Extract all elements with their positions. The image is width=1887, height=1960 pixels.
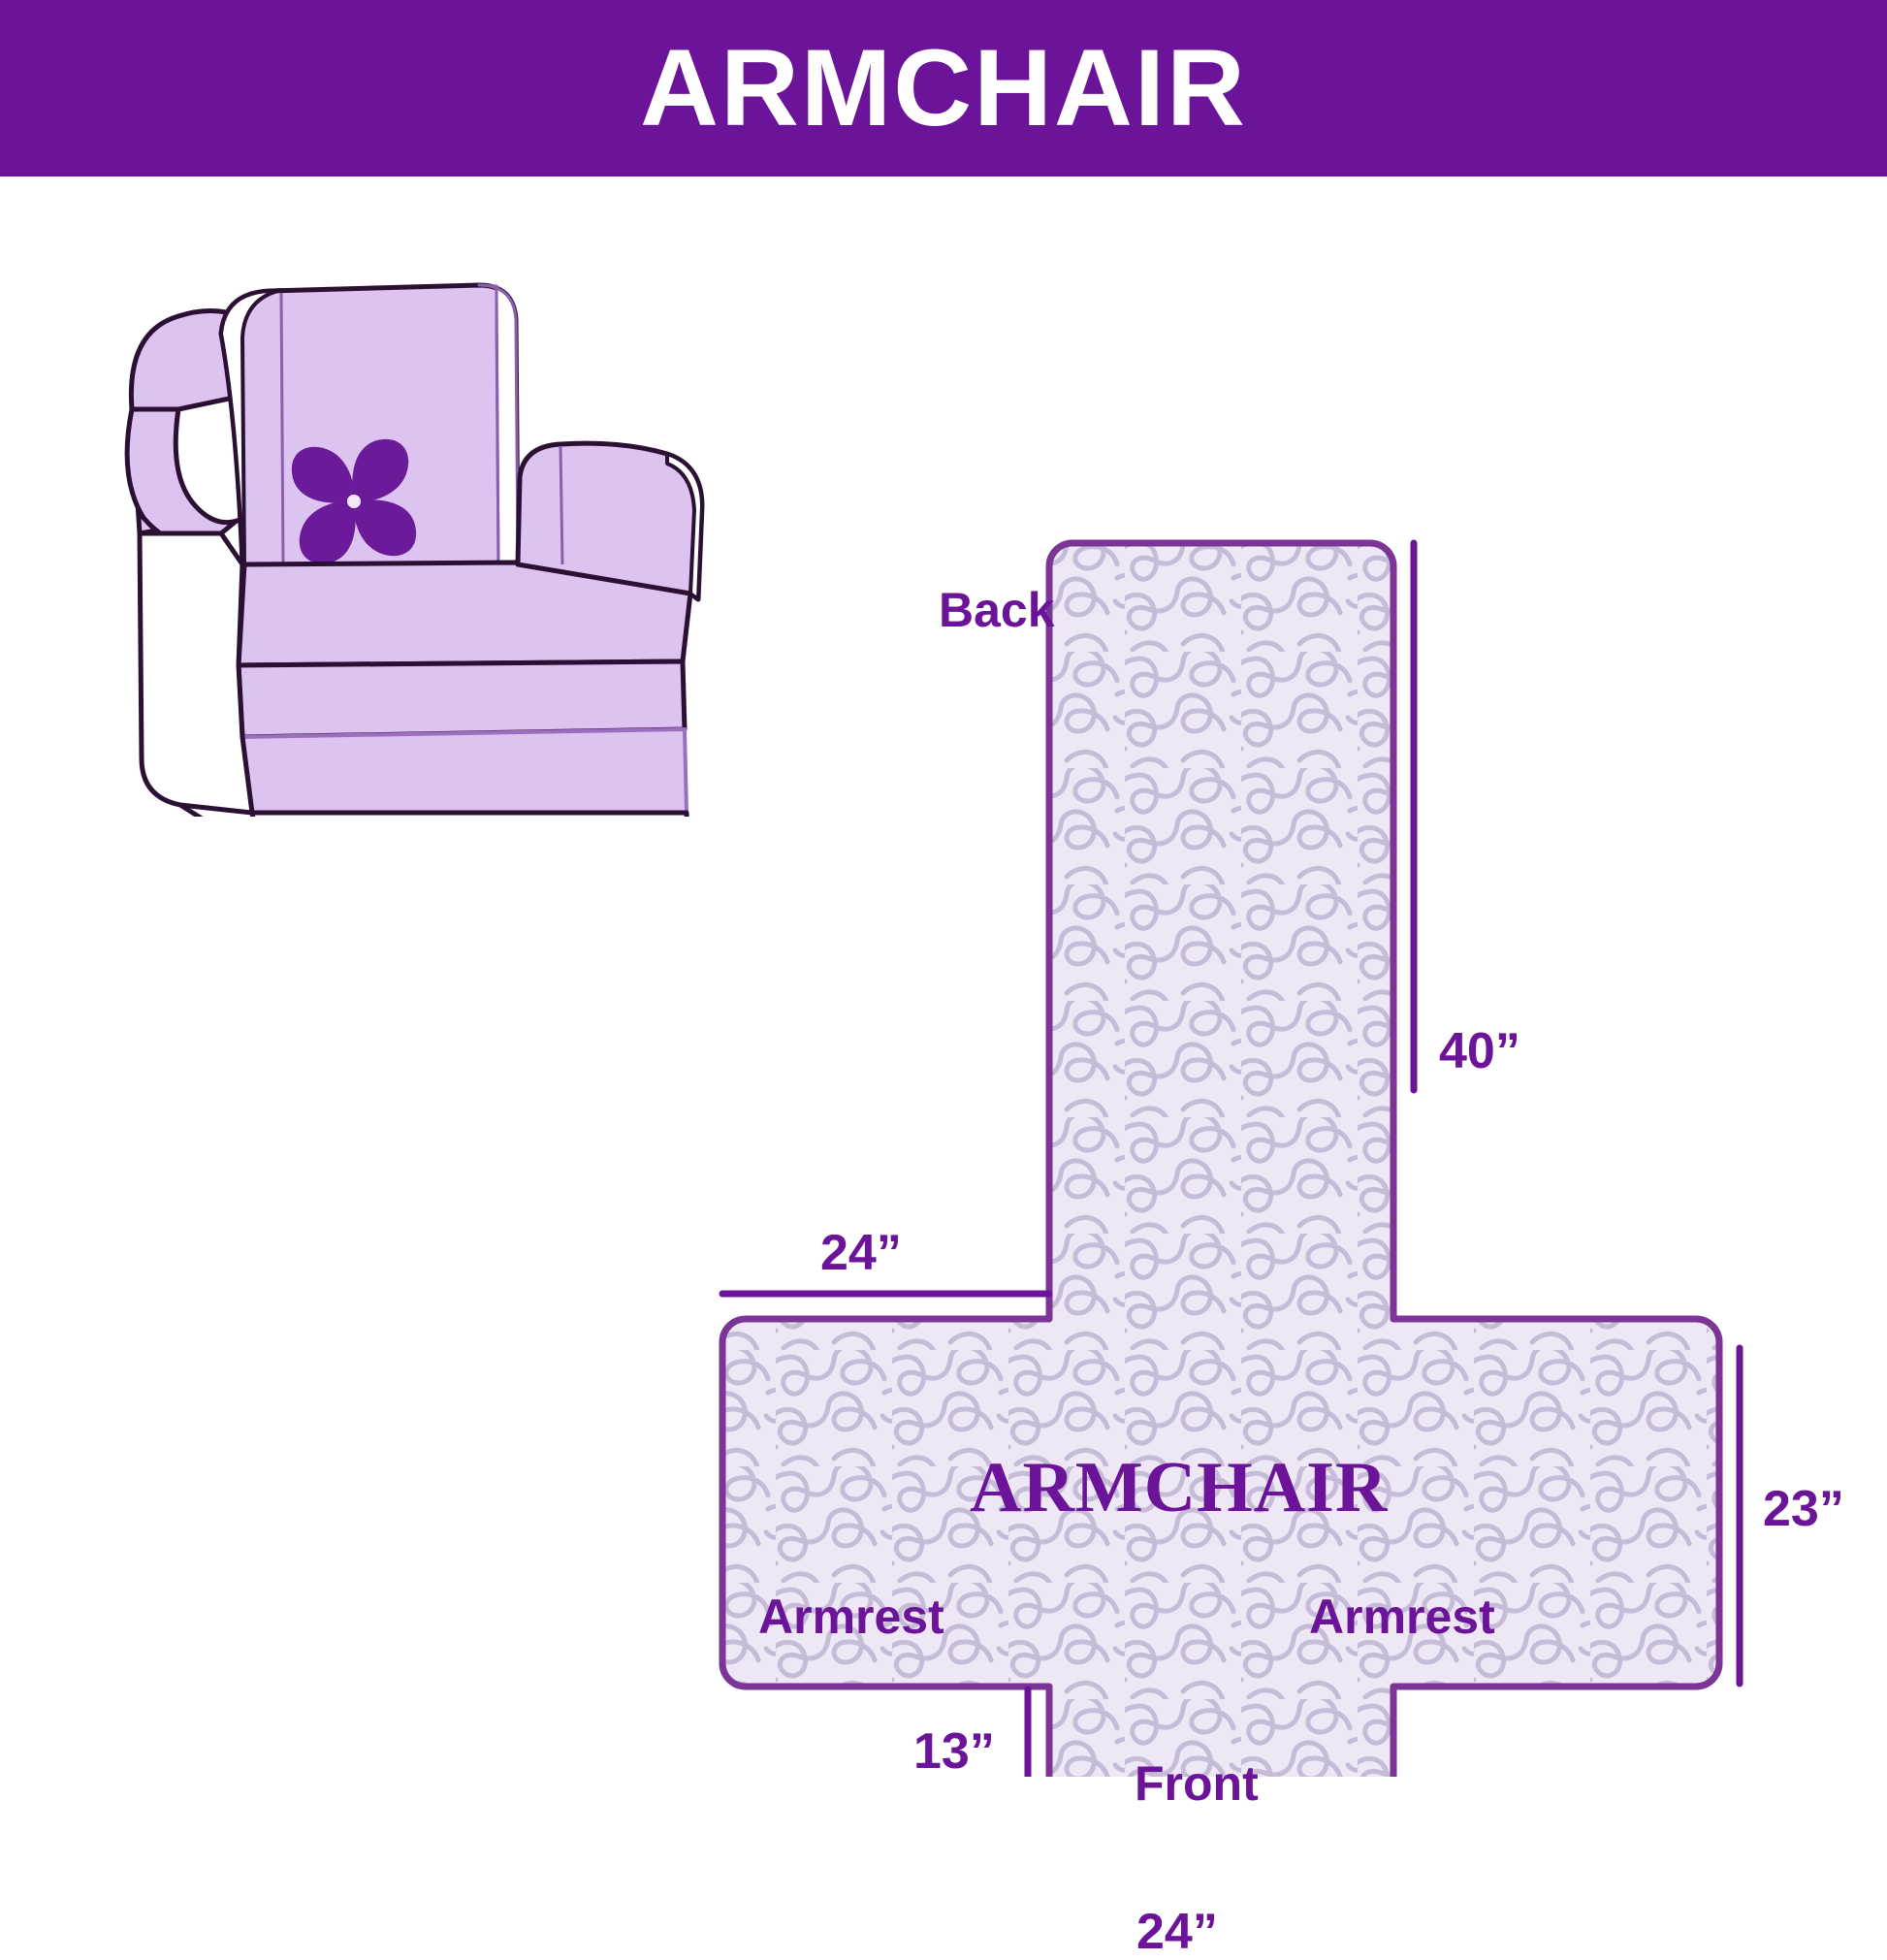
page-title: ARMCHAIR <box>640 34 1247 143</box>
panel-label-front: Front <box>1135 1759 1259 1808</box>
dim-label-front-height: 13” <box>913 1726 995 1777</box>
diagram-stage: Back ARMCHAIR Armrest Armrest Front 40” … <box>0 177 1887 1887</box>
header-banner: ARMCHAIR <box>0 0 1887 177</box>
dim-label-center-height: 23” <box>1763 1484 1844 1534</box>
panel-label-armrest-left: Armrest <box>758 1592 944 1641</box>
dim-label-armrest-width: 24” <box>820 1228 902 1278</box>
dim-label-front-width: 24” <box>1136 1907 1218 1957</box>
cover-center-label: ARMCHAIR <box>970 1452 1388 1524</box>
cover-cross-diagram: Back ARMCHAIR Armrest Armrest Front 40” … <box>543 535 1804 1777</box>
panel-label-back: Back <box>939 586 1055 634</box>
dim-label-back-height: 40” <box>1439 1026 1520 1076</box>
panel-label-armrest-right: Armrest <box>1309 1592 1495 1641</box>
